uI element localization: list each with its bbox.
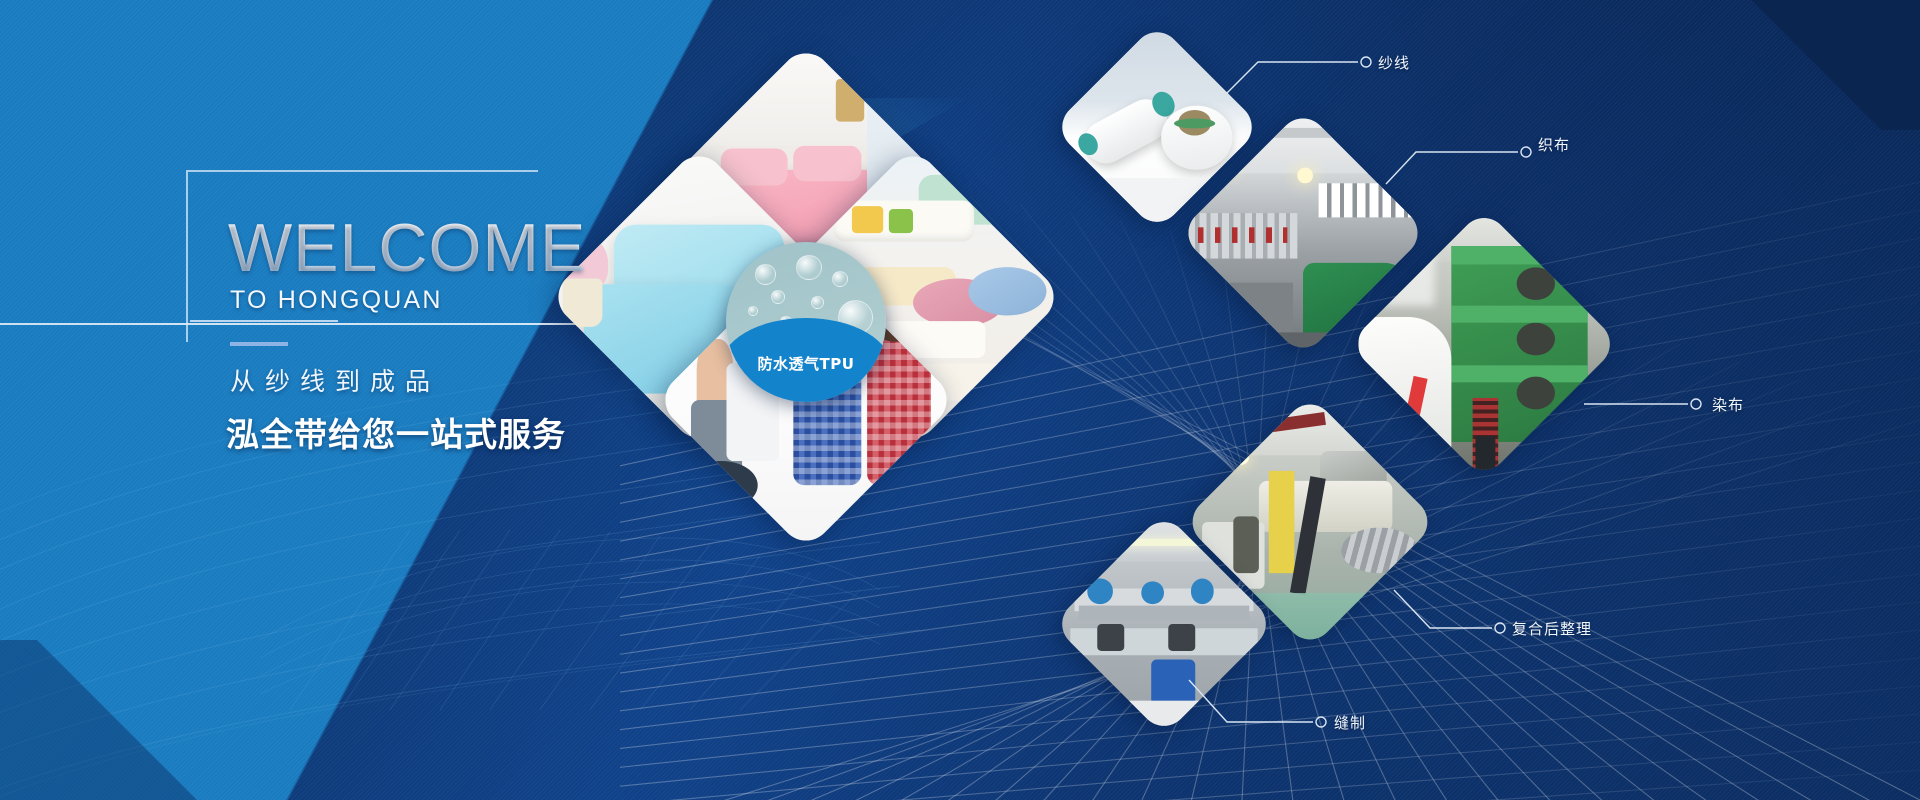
corner-accent-top-right <box>1700 0 1920 130</box>
center-badge-label: 防水透气TPU <box>726 353 886 374</box>
page-subtitle: TO HONGQUAN <box>230 286 443 315</box>
corner-accent-bottom-left <box>0 640 330 800</box>
center-badge-waterproof-tpu[interactable]: 防水透气TPU <box>726 242 886 402</box>
page-title: WELCOME <box>228 214 586 282</box>
headline-chinese: 泓全带给您一站式服务 <box>226 408 566 456</box>
process-label-laminating: 复合后整理 <box>1512 618 1592 639</box>
accent-dash-decoration <box>230 342 288 346</box>
process-label-sewing: 缝制 <box>1334 712 1366 733</box>
process-label-yarn: 纱线 <box>1378 52 1410 73</box>
product-diamond-cluster: 防水透气TPU <box>596 96 1016 516</box>
hero-banner: WELCOME TO HONGQUAN 从纱线到成品 泓全带给您一站式服务 <box>0 0 1920 800</box>
tagline-chinese: 从纱线到成品 <box>230 362 440 398</box>
process-label-weaving: 织布 <box>1538 134 1570 155</box>
process-label-dyeing: 染布 <box>1712 394 1744 415</box>
